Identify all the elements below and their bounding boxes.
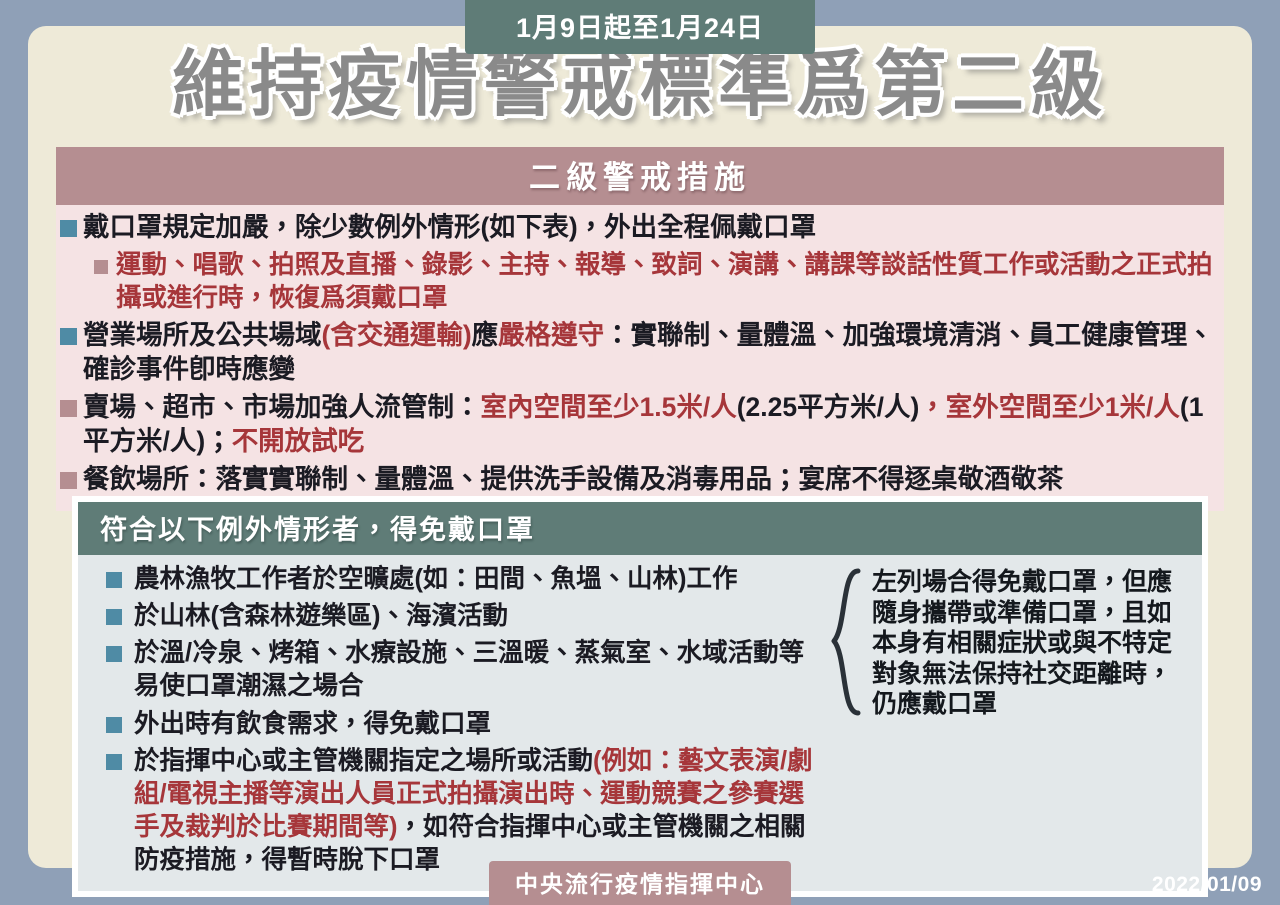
measures-list: 戴口罩規定加嚴，除少數例外情形(如下表)，外出全程佩戴口罩運動、唱歌、拍照及直播… <box>56 205 1224 511</box>
publish-date: 2022/01/09 <box>1152 873 1262 897</box>
body-text: 於山林(含森林遊樂區)、海濱活動 <box>134 602 508 630</box>
emphasis-text: 室內空間至少1.5米/人 <box>481 392 737 422</box>
exception-item: 外出時有飲食需求，得免戴口罩 <box>106 708 828 741</box>
body-text: 農林漁牧工作者於空曠處(如：田間、魚塭、山林)工作 <box>134 565 738 593</box>
measures-section-title: 二級警戒措施 <box>56 147 1224 205</box>
body-text: 賣場、超市、市場加強人流管制： <box>83 392 481 422</box>
emphasis-text: ， <box>919 392 946 422</box>
emphasis-text: 不開放試吃 <box>232 426 365 456</box>
emphasis-text: 室外空間至少1米/人 <box>946 392 1180 422</box>
emphasis-text: 嚴格遵守 <box>498 320 604 350</box>
body-text: ； <box>205 426 232 456</box>
body-text: 於溫/冷泉、烤箱、水療設施、三溫暖、蒸氣室、水域活動等易使口罩潮濕之場合 <box>134 639 804 700</box>
body-text: 餐飲場所：落實實聯制、量體溫、提供洗手設備及消毒用品；宴席不得逐桌敬酒敬茶 <box>83 464 1064 494</box>
side-note-text: 左列場合得免戴口罩，但應隨身攜帶或準備口罩，且如本身有相關症狀或與不特定對象無法… <box>872 567 1196 720</box>
bullet-square-icon <box>106 646 122 662</box>
bullet-square-icon <box>106 609 122 625</box>
exception-item-text: 農林漁牧工作者於空曠處(如：田間、魚塭、山林)工作 <box>134 563 738 596</box>
exception-item-text: 於指揮中心或主管機關指定之場所或活動(例如：藝文表演/劇組/電視主播等演出人員正… <box>134 745 828 878</box>
bullet-square-icon <box>106 754 122 770</box>
measure-item: 戴口罩規定加嚴，除少數例外情形(如下表)，外出全程佩戴口罩 <box>60 211 1214 245</box>
bullet-square-icon <box>60 400 77 417</box>
body-text: 營業場所及公共場域 <box>83 320 322 350</box>
exceptions-section: 符合以下例外情形者，得免戴口罩 農林漁牧工作者於空曠處(如：田間、魚塭、山林)工… <box>72 496 1208 897</box>
measure-item-text: 營業場所及公共場域(含交通運輸)應嚴格遵守：實聯制、量體溫、加強環境清消、員工健… <box>83 319 1214 387</box>
exception-item-text: 於山林(含森林遊樂區)、海濱活動 <box>134 600 508 633</box>
measure-item: 營業場所及公共場域(含交通運輸)應嚴格遵守：實聯制、量體溫、加強環境清消、員工健… <box>60 319 1214 387</box>
body-text: 戴口罩規定加嚴，除少數例外情形(如下表)，外出全程佩戴口罩 <box>83 212 816 242</box>
bullet-square-icon <box>106 717 122 733</box>
body-text: 於指揮中心或主管機關指定之場所或活動 <box>134 747 593 775</box>
measures-section: 二級警戒措施 戴口罩規定加嚴，除少數例外情形(如下表)，外出全程佩戴口罩運動、唱… <box>56 147 1224 511</box>
measure-sub-item-text: 運動、唱歌、拍照及直播、錄影、主持、報導、致詞、演講、講課等談話性質工作或活動之… <box>116 249 1214 315</box>
bullet-square-icon <box>94 260 108 274</box>
bullet-square-icon <box>60 328 77 345</box>
body-text: 外出時有飲食需求，得免戴口罩 <box>134 710 491 738</box>
exceptions-section-title: 符合以下例外情形者，得免戴口罩 <box>78 502 1202 555</box>
curly-brace-icon <box>828 567 868 717</box>
bullet-square-icon <box>60 472 77 489</box>
measure-item-text: 餐飲場所：落實實聯制、量體溫、提供洗手設備及消毒用品；宴席不得逐桌敬酒敬茶 <box>83 463 1064 497</box>
page-title: 維持疫情警戒標準爲第二級 <box>0 48 1280 124</box>
date-range-banner: 1月9日起至1月24日 <box>465 0 815 54</box>
exception-item-text: 外出時有飲食需求，得免戴口罩 <box>134 708 491 741</box>
organization-badge: 中央流行疫情指揮中心 <box>489 861 791 905</box>
exception-item-text: 於溫/冷泉、烤箱、水療設施、三溫暖、蒸氣室、水域活動等易使口罩潮濕之場合 <box>134 637 828 703</box>
body-text: 應 <box>472 320 499 350</box>
exceptions-list: 農林漁牧工作者於空曠處(如：田間、魚塭、山林)工作於山林(含森林遊樂區)、海濱活… <box>84 563 828 881</box>
measure-sub-item: 運動、唱歌、拍照及直播、錄影、主持、報導、致詞、演講、講課等談話性質工作或活動之… <box>94 249 1214 315</box>
body-text: (2.25平方米/人) <box>737 392 920 422</box>
measure-item-text: 戴口罩規定加嚴，除少數例外情形(如下表)，外出全程佩戴口罩 <box>83 211 816 245</box>
exception-item: 於溫/冷泉、烤箱、水療設施、三溫暖、蒸氣室、水域活動等易使口罩潮濕之場合 <box>106 637 828 703</box>
poster-root: 1月9日起至1月24日 維持疫情警戒標準爲第二級 二級警戒措施 戴口罩規定加嚴，… <box>0 0 1280 905</box>
measure-item: 賣場、超市、市場加強人流管制：室內空間至少1.5米/人(2.25平方米/人)，室… <box>60 391 1214 459</box>
exception-item: 農林漁牧工作者於空曠處(如：田間、魚塭、山林)工作 <box>106 563 828 596</box>
bullet-square-icon <box>106 572 122 588</box>
exception-item: 於指揮中心或主管機關指定之場所或活動(例如：藝文表演/劇組/電視主播等演出人員正… <box>106 745 828 878</box>
measure-item-text: 賣場、超市、市場加強人流管制：室內空間至少1.5米/人(2.25平方米/人)，室… <box>83 391 1214 459</box>
measure-item: 餐飲場所：落實實聯制、量體溫、提供洗手設備及消毒用品；宴席不得逐桌敬酒敬茶 <box>60 463 1214 497</box>
bullet-square-icon <box>60 220 77 237</box>
exceptions-body: 農林漁牧工作者於空曠處(如：田間、魚塭、山林)工作於山林(含森林遊樂區)、海濱活… <box>78 555 1202 891</box>
side-note-group: 左列場合得免戴口罩，但應隨身攜帶或準備口罩，且如本身有相關症狀或與不特定對象無法… <box>828 563 1196 881</box>
emphasis-text: (含交通運輸) <box>322 320 472 350</box>
exception-item: 於山林(含森林遊樂區)、海濱活動 <box>106 600 828 633</box>
